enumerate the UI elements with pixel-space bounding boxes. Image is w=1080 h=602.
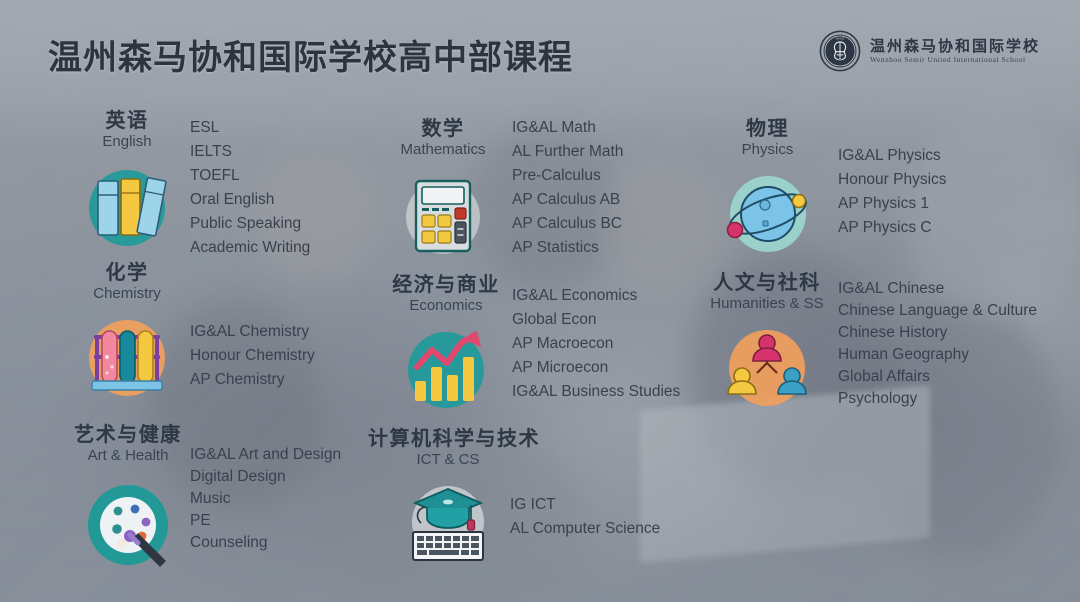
- logo-name-cn: 温州森马协和国际学校: [870, 39, 1040, 54]
- subject-block-physics: 物理 Physics: [705, 118, 830, 261]
- page-title: 温州森马协和国际学校高中部课程: [48, 30, 573, 79]
- subject-heading-chemistry: 化学 Chemistry: [62, 262, 192, 303]
- subject-block-ict-cs: 计算机科学与技术 ICT & CS: [368, 428, 528, 567]
- course-item: IG&AL Art and Design: [190, 444, 341, 466]
- course-item: Global Econ: [512, 308, 680, 332]
- subject-block-art-health: 艺术与健康 Art & Health: [58, 424, 198, 573]
- course-item: Oral English: [190, 188, 310, 212]
- course-list-humanities: IG&AL Chinese Chinese Language & Culture…: [838, 278, 1037, 410]
- subject-block-chemistry: 化学 Chemistry: [62, 262, 192, 405]
- subject-block-economics: 经济与商业 Economics: [376, 274, 516, 417]
- subject-name-cn: 计算机科学与技术: [368, 428, 528, 450]
- course-item: AP Statistics: [512, 236, 623, 260]
- course-item: TOEFL: [190, 164, 310, 188]
- subject-name-en: Art & Health: [58, 448, 198, 465]
- subject-icon-wrap-mathematics: [378, 167, 508, 261]
- course-list-chemistry: IG&AL Chemistry Honour Chemistry AP Chem…: [190, 320, 315, 392]
- course-item: Public Speaking: [190, 212, 310, 236]
- books-icon: [80, 159, 174, 253]
- bar-chart-icon: [399, 323, 493, 417]
- course-item: Digital Design: [190, 466, 341, 488]
- subject-icon-wrap-economics: [376, 323, 516, 417]
- subject-name-en: ICT & CS: [368, 452, 528, 469]
- subject-block-english: 英语 English: [62, 110, 192, 253]
- calculator-icon: [398, 167, 488, 261]
- subject-name-cn: 人文与社科: [692, 272, 842, 294]
- course-item: Chinese Language & Culture: [838, 300, 1037, 322]
- subject-heading-ict-cs: 计算机科学与技术 ICT & CS: [368, 428, 528, 469]
- graduation-keyboard-icon: [401, 477, 495, 567]
- course-list-english: ESL IELTS TOEFL Oral English Public Spea…: [190, 116, 310, 260]
- course-item: IG&AL Business Studies: [512, 380, 680, 404]
- subject-heading-humanities: 人文与社科 Humanities & SS: [692, 272, 842, 313]
- test-tubes-icon: [80, 311, 174, 405]
- school-crest-icon: WSUIS: [819, 30, 861, 72]
- subject-icon-wrap-physics: [705, 167, 830, 261]
- subject-name-en: English: [62, 134, 192, 151]
- subject-name-cn: 经济与商业: [376, 274, 516, 296]
- course-item: Honour Chemistry: [190, 344, 315, 368]
- course-item: IG&AL Chemistry: [190, 320, 315, 344]
- course-list-mathematics: IG&AL Math AL Further Math Pre-Calculus …: [512, 116, 623, 260]
- course-item: ESL: [190, 116, 310, 140]
- subject-icon-wrap-humanities: [692, 321, 842, 415]
- course-item: AL Computer Science: [510, 517, 660, 541]
- svg-text:WSUIS: WSUIS: [836, 37, 845, 40]
- course-item: AP Physics C: [838, 216, 947, 240]
- course-item: AP Microecon: [512, 356, 680, 380]
- subject-name-cn: 数学: [378, 118, 508, 140]
- course-item: Music: [190, 488, 341, 510]
- subject-name-cn: 化学: [62, 262, 192, 284]
- subject-name-en: Humanities & SS: [692, 296, 842, 313]
- course-item: Chinese History: [838, 322, 1037, 344]
- course-item: PE: [190, 510, 341, 532]
- subject-block-humanities: 人文与社科 Humanities & SS: [692, 272, 842, 415]
- course-list-art-health: IG&AL Art and Design Digital Design Musi…: [190, 444, 341, 554]
- palette-icon: [78, 473, 178, 573]
- subject-name-en: Chemistry: [62, 286, 192, 303]
- course-list-economics: IG&AL Economics Global Econ AP Macroecon…: [512, 284, 680, 404]
- subject-icon-wrap-english: [62, 159, 192, 253]
- subject-block-mathematics: 数学 Mathematics: [378, 118, 508, 261]
- course-item: Honour Physics: [838, 168, 947, 192]
- course-item: Academic Writing: [190, 236, 310, 260]
- subject-heading-economics: 经济与商业 Economics: [376, 274, 516, 315]
- course-item: IELTS: [190, 140, 310, 164]
- subject-icon-wrap-ict-cs: [368, 477, 528, 567]
- subject-name-cn: 物理: [705, 118, 830, 140]
- subject-icon-wrap-chemistry: [62, 311, 192, 405]
- course-item: AP Calculus AB: [512, 188, 623, 212]
- subject-name-en: Economics: [376, 298, 516, 315]
- course-item: AP Calculus BC: [512, 212, 623, 236]
- course-item: Human Geography: [838, 344, 1037, 366]
- course-item: AP Macroecon: [512, 332, 680, 356]
- course-item: Pre-Calculus: [512, 164, 623, 188]
- course-item: Psychology: [838, 388, 1037, 410]
- subject-name-en: Mathematics: [378, 142, 508, 159]
- subject-name-cn: 英语: [62, 110, 192, 132]
- course-list-ict-cs: IG ICT AL Computer Science: [510, 493, 660, 541]
- subject-heading-art-health: 艺术与健康 Art & Health: [58, 424, 198, 465]
- course-item: IG&AL Chinese: [838, 278, 1037, 300]
- course-item: AP Physics 1: [838, 192, 947, 216]
- subject-heading-physics: 物理 Physics: [705, 118, 830, 159]
- course-item: IG ICT: [510, 493, 660, 517]
- planet-icon: [721, 167, 815, 261]
- subject-heading-mathematics: 数学 Mathematics: [378, 118, 508, 159]
- subject-name-en: Physics: [705, 142, 830, 159]
- subject-name-cn: 艺术与健康: [58, 424, 198, 446]
- course-item: Counseling: [190, 532, 341, 554]
- course-list-physics: IG&AL Physics Honour Physics AP Physics …: [838, 144, 947, 240]
- subject-heading-english: 英语 English: [62, 110, 192, 151]
- course-item: IG&AL Economics: [512, 284, 680, 308]
- people-group-icon: [720, 321, 814, 415]
- course-item: IG&AL Math: [512, 116, 623, 140]
- school-logo: WSUIS 温州森马协和国际学校 Wenzhou Semir United In…: [819, 30, 1040, 72]
- subject-icon-wrap-art-health: [58, 473, 198, 573]
- course-item: Global Affairs: [838, 366, 1037, 388]
- course-item: IG&AL Physics: [838, 144, 947, 168]
- logo-name-en: Wenzhou Semir United International Schoo…: [870, 56, 1040, 64]
- course-item: AL Further Math: [512, 140, 623, 164]
- course-item: AP Chemistry: [190, 368, 315, 392]
